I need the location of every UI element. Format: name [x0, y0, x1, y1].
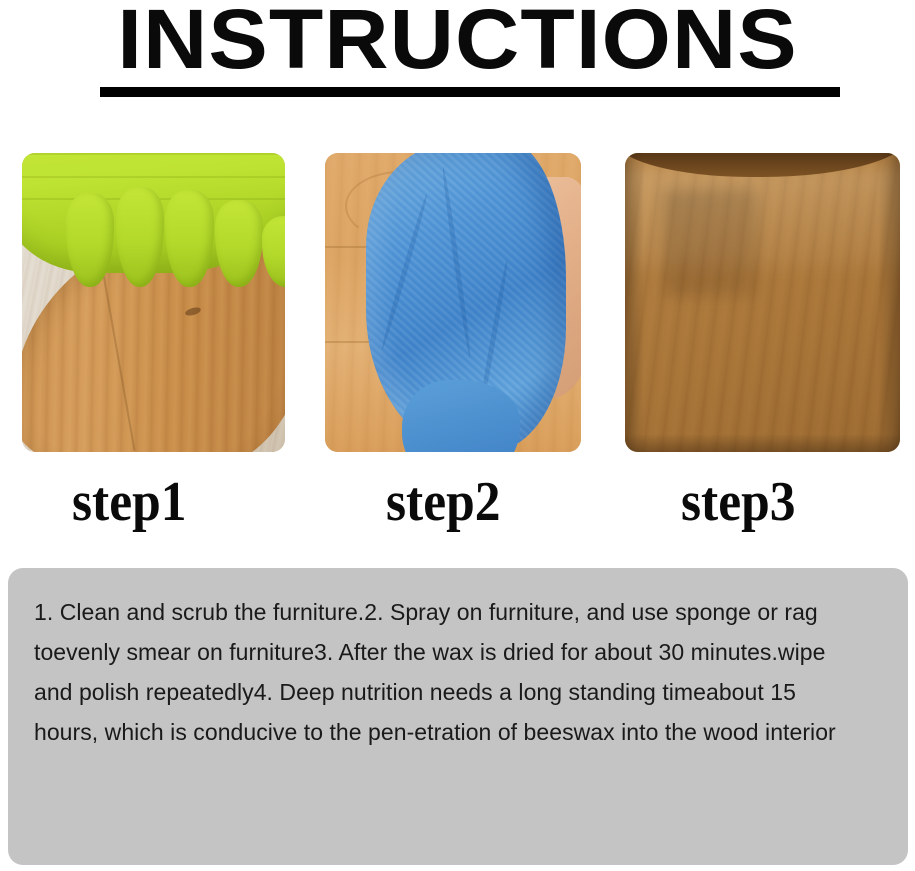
glove-wrinkle [22, 153, 285, 155]
step-photo-row [0, 153, 915, 453]
cloth-fold [440, 167, 472, 359]
step2-photo-hand-wiping-with-blue-cloth [325, 153, 581, 452]
step1-photo-gloved-hand-scrubbing-wood [22, 153, 285, 452]
glove-wrinkle [22, 176, 285, 178]
step3-photo-polished-wood-surface [625, 153, 900, 452]
description-text: 1. Clean and scrub the furniture.2. Spra… [34, 592, 864, 752]
page-title: INSTRUCTIONS [0, 0, 915, 84]
glove-finger [116, 187, 164, 287]
cloth-fold [380, 193, 429, 350]
right-edge-shading [878, 153, 900, 452]
step1-photo-content [22, 153, 285, 452]
step-label-row: step1 step2 step3 [0, 470, 915, 540]
dark-bottom-shadow [625, 434, 900, 452]
step-label-2: step2 [386, 470, 500, 534]
title-underline-rule [100, 87, 840, 97]
yellow-green-glove [22, 153, 285, 273]
step-label-3: step3 [681, 470, 795, 534]
left-edge-shading [625, 153, 644, 452]
cloth-hanging-corner [402, 380, 520, 452]
header-block: INSTRUCTIONS [0, 0, 915, 110]
description-panel: 1. Clean and scrub the furniture.2. Spra… [8, 568, 908, 865]
step-label-1: step1 [72, 470, 186, 534]
step3-photo-content [625, 153, 900, 452]
surface-gloss-sheen [625, 165, 900, 267]
step2-photo-content [325, 153, 581, 452]
